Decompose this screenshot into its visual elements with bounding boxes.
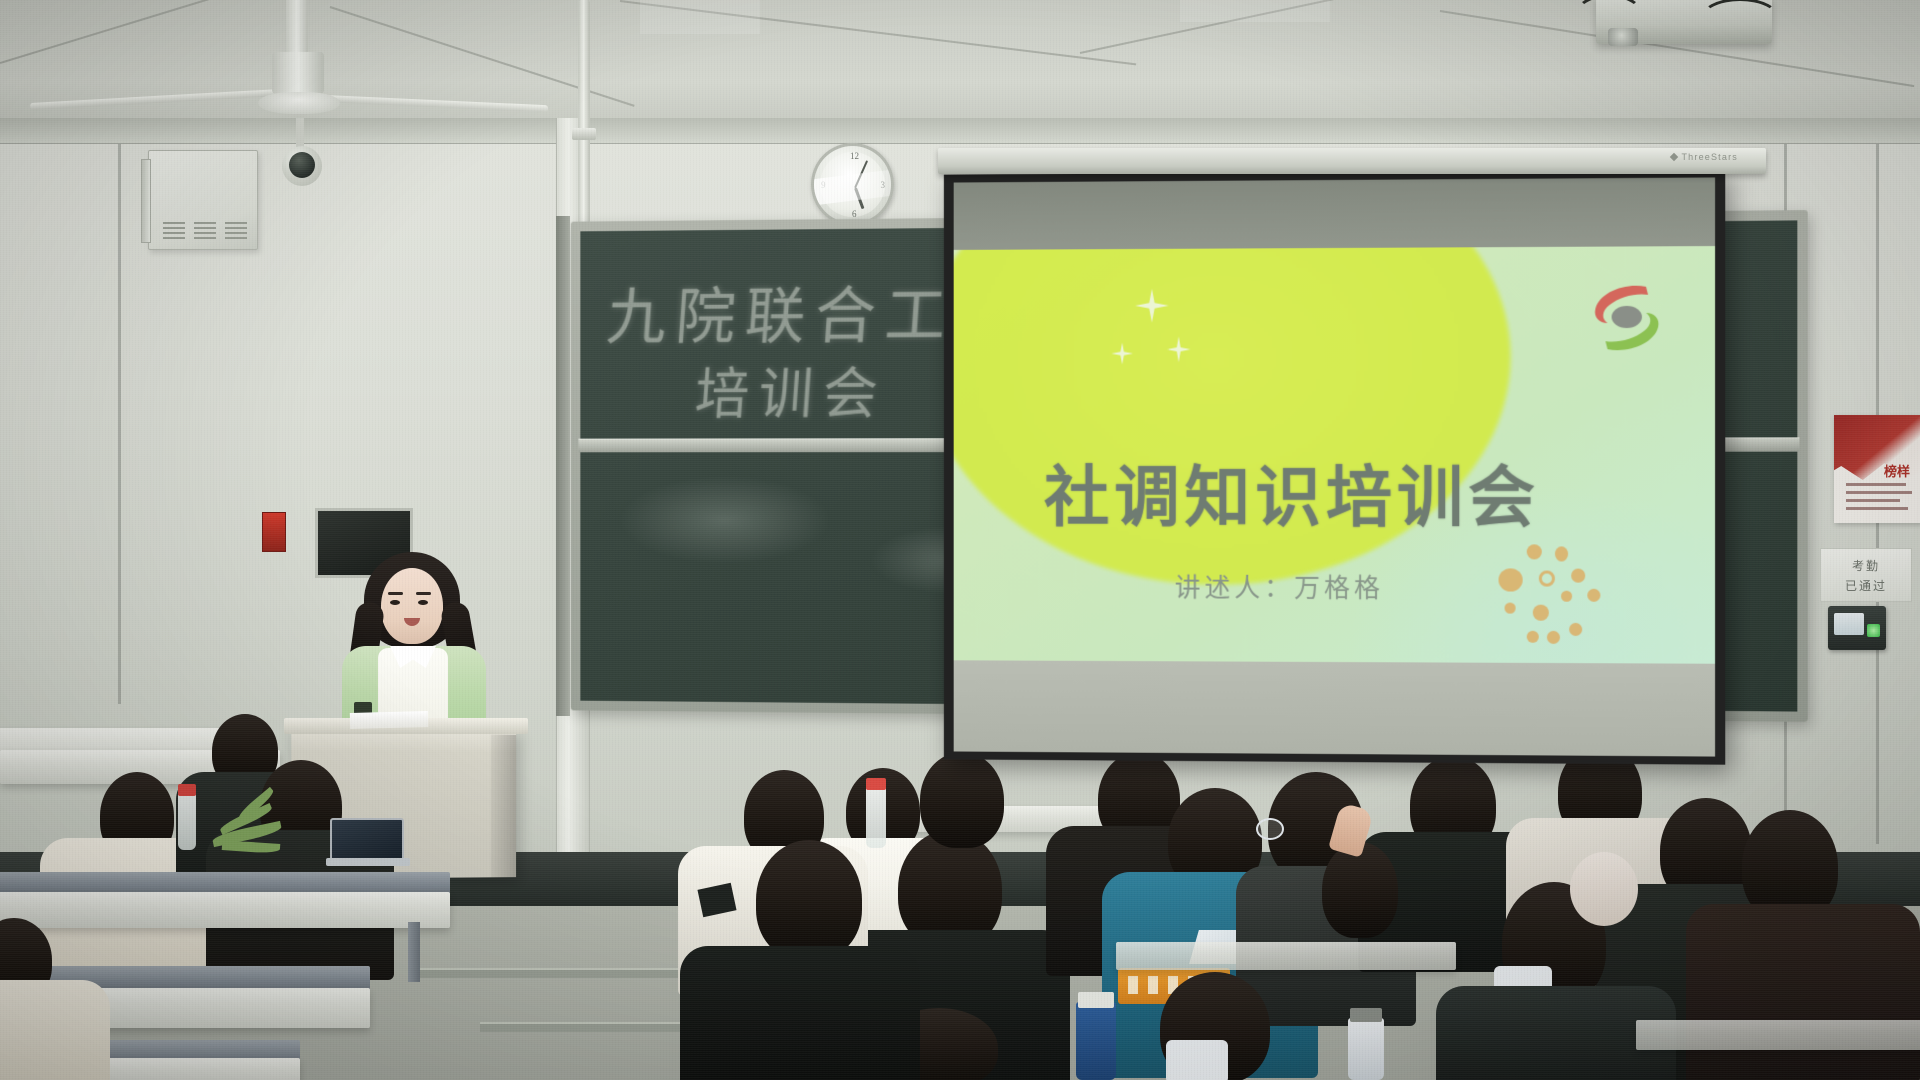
confetti-dots (1482, 530, 1603, 641)
slide-title: 社调知识培训会 (1044, 444, 1540, 540)
water-bottle-clear (866, 786, 886, 848)
student-head (920, 752, 1004, 848)
classroom-photo: 12 3 6 9 九院联合工业 培训会 榜样 考勤 已通过 (0, 0, 1920, 1080)
wall-clock: 12 3 6 9 (811, 143, 894, 226)
laptop-base (326, 858, 410, 866)
water-bottle-clear (178, 792, 196, 850)
slide-subtitle: 讲述人：万格格 (1175, 568, 1384, 606)
student-head (756, 840, 862, 960)
water-bottle-blue (1076, 1002, 1116, 1080)
attendance-sign-line2: 已通过 (1821, 577, 1911, 594)
student-head (1322, 842, 1398, 938)
bottle-cap (866, 778, 886, 790)
desk (1636, 1020, 1920, 1050)
blackboard-line-2: 培训会 (693, 349, 891, 429)
water-bottle-clear (1348, 1018, 1384, 1080)
screen-brand-mark: ThreeStars (1671, 152, 1738, 162)
student-body (1686, 904, 1920, 1080)
projection-screen: 社调知识培训会 讲述人：万格格 (944, 169, 1725, 764)
poster-title: 榜样 (1884, 461, 1910, 480)
diamond-icon (1670, 153, 1678, 161)
face-mask (1166, 1040, 1228, 1080)
attendance-sign: 考勤 已通过 (1820, 548, 1912, 602)
attendance-sign-line1: 考勤 (1821, 557, 1911, 574)
clock-numeral: 6 (852, 209, 857, 219)
fire-alarm-panel (262, 512, 286, 552)
clock-numeral: 12 (850, 151, 859, 161)
potted-plant (212, 800, 292, 870)
bottle-cap (1350, 1008, 1382, 1022)
screen-roller-housing: ThreeStars (938, 148, 1766, 174)
card-reader-status-led (1867, 624, 1880, 637)
laptop[interactable] (330, 818, 404, 862)
student-body (680, 946, 920, 1080)
desk (1116, 942, 1456, 970)
bottle-cap (178, 784, 196, 796)
honor-poster: 榜样 (1834, 415, 1920, 523)
presentation-slide: 社调知识培训会 讲述人：万格格 (954, 246, 1715, 680)
wall-top-trim (0, 118, 1920, 144)
bottle-cap (1078, 992, 1114, 1008)
screen-brand-label: ThreeStars (1681, 152, 1738, 162)
desk (0, 892, 450, 928)
notes-sheet (350, 711, 428, 729)
hair-accessory (1570, 852, 1638, 926)
screen-top-shadow (954, 177, 1715, 249)
student-body (0, 980, 110, 1080)
screen-blank-lower-area (954, 660, 1715, 756)
card-reader-display (1834, 613, 1864, 635)
swoosh-logo (1583, 281, 1670, 356)
eyeglasses (1256, 818, 1284, 840)
attendance-card-reader[interactable] (1828, 606, 1886, 650)
